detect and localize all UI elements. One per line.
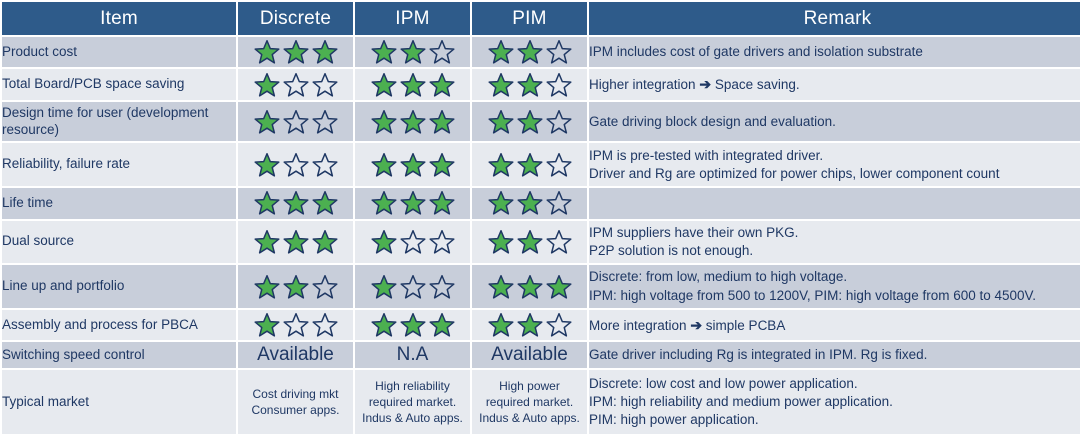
star-empty-icon <box>312 152 338 178</box>
star-filled-icon <box>254 109 280 135</box>
star-filled-icon <box>488 312 514 338</box>
star-filled-icon <box>429 312 455 338</box>
market-line: Consumer apps. <box>238 402 353 418</box>
star-filled-icon <box>488 229 514 255</box>
star-empty-icon <box>283 152 309 178</box>
cell-ipm-market: High reliabilityrequired market.Indus & … <box>355 370 470 434</box>
row-item-label: Line up and portfolio <box>2 265 236 308</box>
star-filled-icon <box>283 39 309 65</box>
star-filled-icon <box>283 229 309 255</box>
star-filled-icon <box>254 152 280 178</box>
column-header-item: Item <box>2 2 236 35</box>
cell-discrete-rating <box>238 102 353 142</box>
market-line: Indus & Auto apps. <box>355 410 470 426</box>
cell-ipm-rating <box>355 69 470 99</box>
remark-line: PIM: high power application. <box>589 411 1080 429</box>
star-empty-icon <box>312 274 338 300</box>
table-row: Life time <box>2 188 1080 218</box>
cell-ipm-value: N.A <box>355 342 470 368</box>
cell-pim-rating <box>472 69 587 99</box>
star-filled-icon <box>254 312 280 338</box>
remark-line: IPM is pre-tested with integrated driver… <box>589 147 1080 165</box>
star-filled-icon <box>312 39 338 65</box>
star-filled-icon <box>371 190 397 216</box>
star-filled-icon <box>517 190 543 216</box>
star-empty-icon <box>400 229 426 255</box>
arrow-right-icon: ➔ <box>690 317 702 333</box>
star-filled-icon <box>429 190 455 216</box>
market-line: required market. <box>355 394 470 410</box>
cell-ipm-rating <box>355 188 470 218</box>
market-line: High power <box>472 378 587 394</box>
star-filled-icon <box>371 229 397 255</box>
cell-discrete-market: Cost driving mktConsumer apps. <box>238 370 353 434</box>
cell-remark: IPM is pre-tested with integrated driver… <box>589 143 1080 186</box>
star-filled-icon <box>429 72 455 98</box>
star-empty-icon <box>283 109 309 135</box>
cell-remark: IPM includes cost of gate drivers and is… <box>589 37 1080 67</box>
table-row: Reliability, failure rateIPM is pre-test… <box>2 143 1080 186</box>
remark-line: Gate driving block design and evaluation… <box>589 113 1080 131</box>
star-filled-icon <box>400 72 426 98</box>
star-filled-icon <box>488 274 514 300</box>
star-filled-icon <box>254 72 280 98</box>
star-empty-icon <box>546 152 572 178</box>
star-rating <box>355 72 470 98</box>
star-filled-icon <box>371 152 397 178</box>
cell-discrete-rating <box>238 188 353 218</box>
star-empty-icon <box>283 312 309 338</box>
star-rating <box>472 152 587 178</box>
row-item-label: Switching speed control <box>2 342 236 368</box>
star-filled-icon <box>517 109 543 135</box>
star-rating <box>238 312 353 338</box>
cell-remark: IPM suppliers have their own PKG.P2P sol… <box>589 221 1080 264</box>
cell-ipm-rating <box>355 265 470 308</box>
cell-pim-rating <box>472 37 587 67</box>
star-filled-icon <box>400 152 426 178</box>
star-filled-icon <box>400 109 426 135</box>
column-header-discrete: Discrete <box>238 2 353 35</box>
star-rating <box>472 229 587 255</box>
star-rating <box>472 39 587 65</box>
cell-discrete-value: Available <box>238 342 353 368</box>
cell-remark: Discrete: from low, medium to high volta… <box>589 265 1080 308</box>
star-empty-icon <box>546 39 572 65</box>
cell-pim-value: Available <box>472 342 587 368</box>
star-rating <box>355 39 470 65</box>
star-filled-icon <box>517 72 543 98</box>
cell-pim-rating <box>472 143 587 186</box>
star-filled-icon <box>517 39 543 65</box>
star-filled-icon <box>312 229 338 255</box>
remark-line: Driver and Rg are optimized for power ch… <box>589 165 1080 183</box>
star-rating <box>355 312 470 338</box>
table-row: Line up and portfolioDiscrete: from low,… <box>2 265 1080 308</box>
star-filled-icon <box>429 152 455 178</box>
star-rating <box>238 109 353 135</box>
star-empty-icon <box>546 72 572 98</box>
star-rating <box>472 109 587 135</box>
row-item-label: Product cost <box>2 37 236 67</box>
header-row: Item Discrete IPM PIM Remark <box>2 2 1080 35</box>
column-header-remark: Remark <box>589 2 1080 35</box>
cell-pim-rating <box>472 221 587 264</box>
star-filled-icon <box>517 229 543 255</box>
star-filled-icon <box>400 39 426 65</box>
remark-line: More integration ➔ simple PCBA <box>589 316 1080 335</box>
table-row: Dual sourceIPM suppliers have their own … <box>2 221 1080 264</box>
star-empty-icon <box>546 229 572 255</box>
cell-discrete-rating <box>238 221 353 264</box>
remark-line: Higher integration ➔ Space saving. <box>589 75 1080 94</box>
row-item-label: Typical market <box>2 370 236 434</box>
star-filled-icon <box>371 39 397 65</box>
star-filled-icon <box>488 109 514 135</box>
market-line: Indus & Auto apps. <box>472 410 587 426</box>
cell-ipm-rating <box>355 221 470 264</box>
star-filled-icon <box>254 274 280 300</box>
star-empty-icon <box>546 190 572 216</box>
row-item-label: Reliability, failure rate <box>2 143 236 186</box>
column-header-ipm: IPM <box>355 2 470 35</box>
star-filled-icon <box>312 190 338 216</box>
table-row: Switching speed controlAvailableN.AAvail… <box>2 342 1080 368</box>
star-empty-icon <box>546 312 572 338</box>
market-line: required market. <box>472 394 587 410</box>
cell-ipm-rating <box>355 37 470 67</box>
star-filled-icon <box>517 274 543 300</box>
star-filled-icon <box>371 312 397 338</box>
star-filled-icon <box>488 39 514 65</box>
star-empty-icon <box>429 274 455 300</box>
cell-pim-rating <box>472 188 587 218</box>
star-filled-icon <box>400 190 426 216</box>
star-rating <box>472 190 587 216</box>
star-rating <box>238 39 353 65</box>
remark-line: Discrete: low cost and low power applica… <box>589 375 1080 393</box>
cell-remark: More integration ➔ simple PCBA <box>589 310 1080 340</box>
star-filled-icon <box>283 274 309 300</box>
row-item-label: Assembly and process for PBCA <box>2 310 236 340</box>
cell-pim-rating <box>472 265 587 308</box>
star-filled-icon <box>254 229 280 255</box>
star-rating <box>238 229 353 255</box>
star-rating <box>355 190 470 216</box>
star-rating <box>355 274 470 300</box>
star-empty-icon <box>546 109 572 135</box>
star-filled-icon <box>283 190 309 216</box>
star-filled-icon <box>546 274 572 300</box>
table-row: Product costIPM includes cost of gate dr… <box>2 37 1080 67</box>
market-line: Cost driving mkt <box>238 386 353 402</box>
cell-pim-market: High powerrequired market.Indus & Auto a… <box>472 370 587 434</box>
cell-ipm-rating <box>355 143 470 186</box>
arrow-right-icon: ➔ <box>699 76 711 92</box>
star-empty-icon <box>429 229 455 255</box>
cell-discrete-rating <box>238 37 353 67</box>
cell-pim-rating <box>472 102 587 142</box>
remark-line: Gate driver including Rg is integrated i… <box>589 346 1080 364</box>
comparison-table: Item Discrete IPM PIM Remark Product cos… <box>0 0 1080 436</box>
star-filled-icon <box>254 39 280 65</box>
remark-line: IPM includes cost of gate drivers and is… <box>589 43 1080 61</box>
table-row: Assembly and process for PBCAMore integr… <box>2 310 1080 340</box>
remark-line: IPM suppliers have their own PKG. <box>589 224 1080 242</box>
star-rating <box>472 274 587 300</box>
star-empty-icon <box>312 109 338 135</box>
star-empty-icon <box>400 274 426 300</box>
star-empty-icon <box>283 72 309 98</box>
cell-discrete-rating <box>238 143 353 186</box>
cell-discrete-rating <box>238 310 353 340</box>
star-empty-icon <box>429 39 455 65</box>
market-line: High reliability <box>355 378 470 394</box>
cell-remark: Higher integration ➔ Space saving. <box>589 69 1080 99</box>
star-filled-icon <box>429 109 455 135</box>
cell-pim-rating <box>472 310 587 340</box>
remark-line: IPM: high voltage from 500 to 1200V, PIM… <box>589 287 1080 305</box>
remark-line: IPM: high reliability and medium power a… <box>589 393 1080 411</box>
cell-ipm-rating <box>355 102 470 142</box>
star-rating <box>238 72 353 98</box>
star-rating <box>355 152 470 178</box>
remark-line: Discrete: from low, medium to high volta… <box>589 268 1080 286</box>
star-filled-icon <box>371 72 397 98</box>
star-filled-icon <box>254 190 280 216</box>
star-rating <box>355 109 470 135</box>
star-filled-icon <box>488 190 514 216</box>
star-rating <box>238 190 353 216</box>
table-body: Product costIPM includes cost of gate dr… <box>2 37 1080 434</box>
row-item-label: Design time for user (development resour… <box>2 102 236 142</box>
cell-ipm-rating <box>355 310 470 340</box>
row-item-label: Total Board/PCB space saving <box>2 69 236 99</box>
cell-remark <box>589 188 1080 218</box>
remark-line: P2P solution is not enough. <box>589 242 1080 260</box>
star-filled-icon <box>400 312 426 338</box>
table-row: Total Board/PCB space savingHigher integ… <box>2 69 1080 99</box>
row-item-label: Life time <box>2 188 236 218</box>
cell-discrete-rating <box>238 265 353 308</box>
star-rating <box>472 312 587 338</box>
table-row: Design time for user (development resour… <box>2 102 1080 142</box>
table-header: Item Discrete IPM PIM Remark <box>2 2 1080 35</box>
star-empty-icon <box>312 72 338 98</box>
star-rating <box>238 152 353 178</box>
cell-discrete-rating <box>238 69 353 99</box>
star-rating <box>355 229 470 255</box>
cell-remark: Gate driving block design and evaluation… <box>589 102 1080 142</box>
star-filled-icon <box>488 152 514 178</box>
cell-remark: Discrete: low cost and low power applica… <box>589 370 1080 434</box>
star-filled-icon <box>371 109 397 135</box>
column-header-pim: PIM <box>472 2 587 35</box>
star-empty-icon <box>312 312 338 338</box>
star-rating <box>472 72 587 98</box>
table-row: Typical marketCost driving mktConsumer a… <box>2 370 1080 434</box>
star-filled-icon <box>488 72 514 98</box>
row-item-label: Dual source <box>2 221 236 264</box>
star-filled-icon <box>371 274 397 300</box>
star-filled-icon <box>517 152 543 178</box>
star-rating <box>238 274 353 300</box>
cell-remark: Gate driver including Rg is integrated i… <box>589 342 1080 368</box>
star-filled-icon <box>517 312 543 338</box>
